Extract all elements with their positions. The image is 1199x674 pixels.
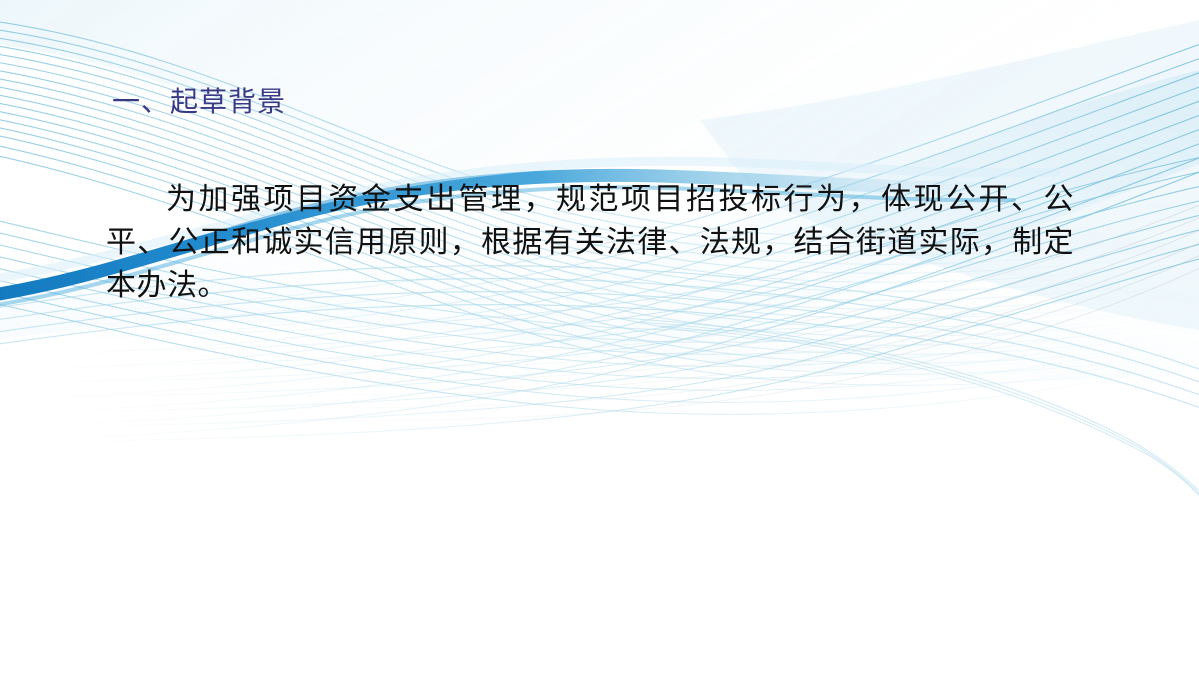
body-paragraph: 为加强项目资金支出管理，规范项目招投标行为，体现公开、公平、公正和诚实信用原则，… xyxy=(106,178,1074,307)
slide-content-layer: 一、起草背景 为加强项目资金支出管理，规范项目招投标行为，体现公开、公平、公正和… xyxy=(0,0,1199,674)
presentation-slide: 一、起草背景 为加强项目资金支出管理，规范项目招投标行为，体现公开、公平、公正和… xyxy=(0,0,1199,674)
section-heading: 一、起草背景 xyxy=(112,86,286,120)
body-text-block: 为加强项目资金支出管理，规范项目招投标行为，体现公开、公平、公正和诚实信用原则，… xyxy=(106,148,1074,337)
